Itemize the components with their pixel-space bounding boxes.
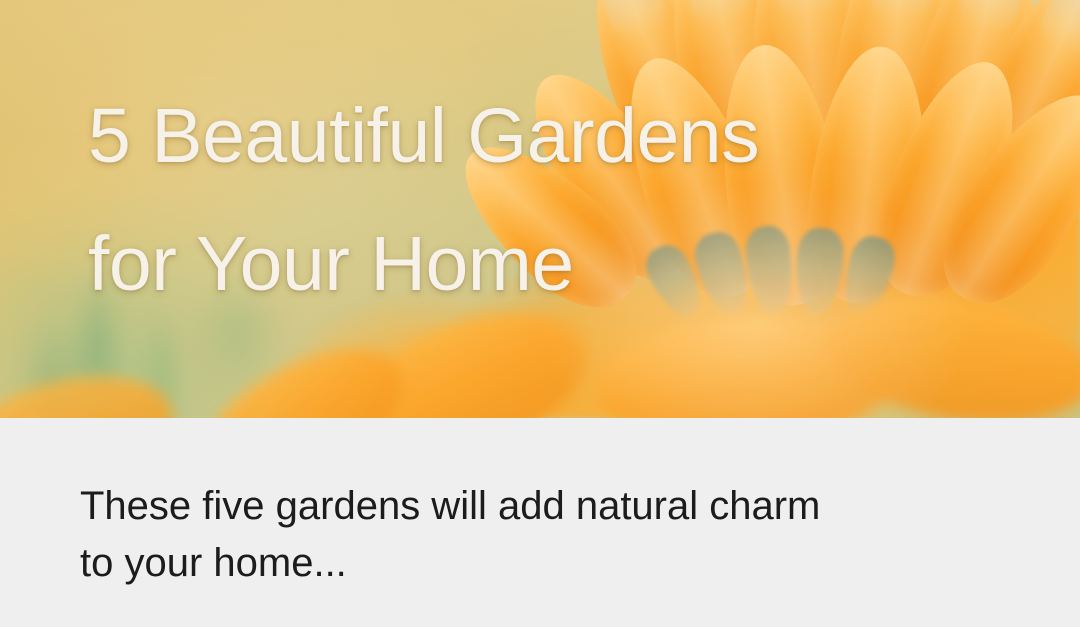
hero-image: 5 Beautiful Gardens for Your Home: [0, 0, 1080, 418]
page-title: 5 Beautiful Gardens for Your Home: [88, 72, 1068, 328]
excerpt-panel: These five gardens will add natural char…: [0, 418, 1080, 627]
excerpt-text: These five gardens will add natural char…: [80, 478, 980, 592]
article-preview-card: 5 Beautiful Gardens for Your Home These …: [0, 0, 1080, 627]
